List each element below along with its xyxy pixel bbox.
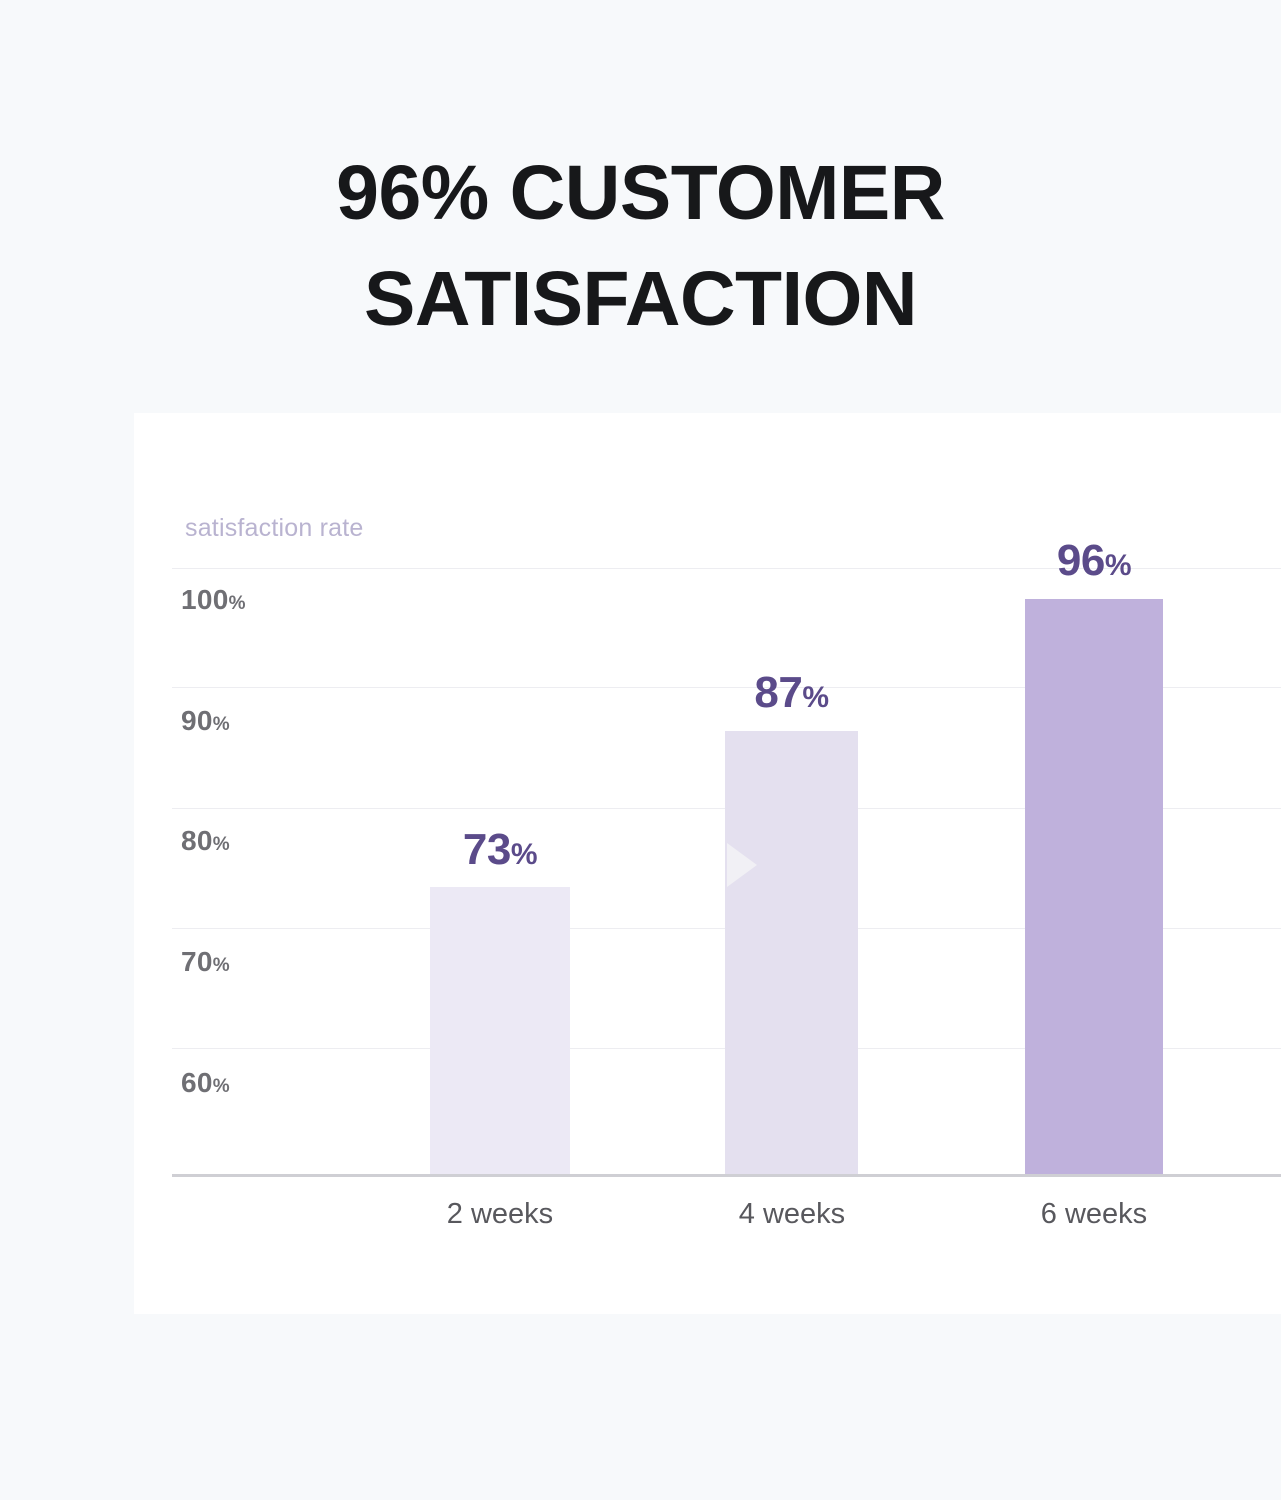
page-title-line-1: 96% CUSTOMER	[0, 140, 1281, 246]
x-axis-label-4-weeks: 4 weeks	[702, 1198, 882, 1231]
bar-6-weeks[interactable]	[1025, 599, 1163, 1174]
bar-value-6-weeks-unit: %	[1105, 549, 1131, 582]
y-axis-tick-70-unit: %	[213, 955, 230, 976]
y-axis-tick-80-unit: %	[213, 834, 230, 855]
x-axis-label-2-weeks: 2 weeks	[410, 1198, 590, 1231]
y-axis-tick-90: 90%	[181, 705, 230, 737]
bar-value-4-weeks-unit: %	[802, 681, 828, 714]
series-label: satisfaction rate	[185, 514, 364, 543]
y-axis-tick-100-unit: %	[229, 593, 246, 614]
bar-value-6-weeks: 96%	[1025, 536, 1163, 586]
x-axis-label-6-weeks: 6 weeks	[1004, 1198, 1184, 1231]
y-axis-tick-60-unit: %	[213, 1076, 230, 1097]
y-axis-tick-70-value: 70	[181, 946, 213, 977]
y-axis-tick-60-value: 60	[181, 1067, 213, 1098]
y-axis-tick-70: 70%	[181, 946, 230, 978]
y-axis-tick-90-value: 90	[181, 705, 213, 736]
chart-card: satisfaction rate 100% 90% 80% 70% 60% 7…	[134, 413, 1281, 1314]
y-axis-tick-100: 100%	[181, 584, 246, 616]
y-axis-tick-80: 80%	[181, 825, 230, 857]
play-arrow-icon	[727, 843, 757, 887]
bar-value-6-weeks-number: 96	[1057, 536, 1105, 585]
x-axis-baseline	[172, 1174, 1281, 1177]
y-axis-tick-90-unit: %	[213, 714, 230, 735]
bar-value-2-weeks-number: 73	[463, 825, 511, 874]
y-axis-tick-80-value: 80	[181, 825, 213, 856]
y-axis-tick-60: 60%	[181, 1067, 230, 1099]
bar-value-2-weeks: 73%	[430, 825, 570, 875]
page-title-line-2: SATISFACTION	[0, 246, 1281, 352]
bar-chart: satisfaction rate 100% 90% 80% 70% 60% 7…	[134, 413, 1281, 1314]
bar-value-4-weeks: 87%	[725, 668, 858, 718]
bar-2-weeks[interactable]	[430, 887, 570, 1174]
bar-value-2-weeks-unit: %	[511, 838, 537, 871]
page-title: 96% CUSTOMER SATISFACTION	[0, 140, 1281, 352]
bar-4-weeks[interactable]	[725, 731, 858, 1174]
y-axis-tick-100-value: 100	[181, 584, 229, 615]
bar-value-4-weeks-number: 87	[754, 668, 802, 717]
